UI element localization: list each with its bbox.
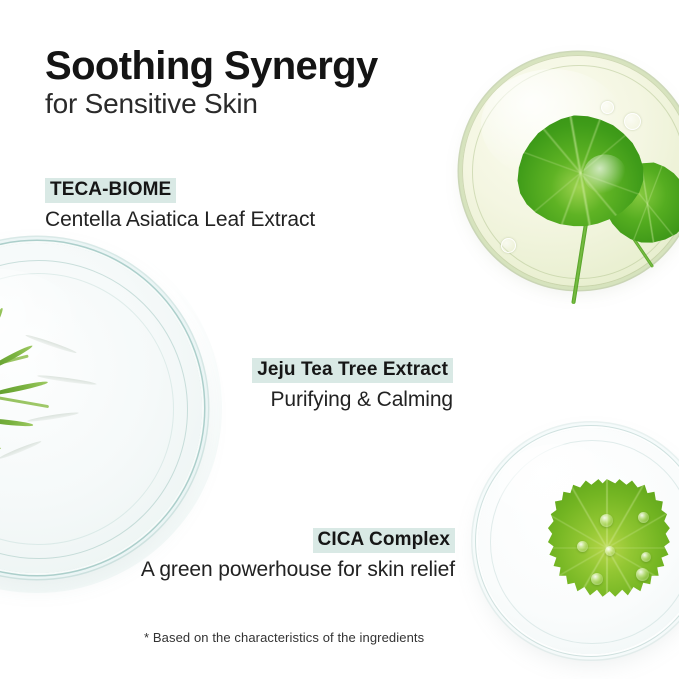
infographic-canvas: Soothing Synergy for Sensitive Skin TECA… [0, 0, 679, 679]
petri-dish-centella-leaves [462, 55, 679, 287]
footnote: * Based on the characteristics of the in… [144, 630, 424, 645]
ingredient-description: Purifying & Calming [252, 388, 453, 412]
ingredient-description: A green powerhouse for skin relief [141, 558, 455, 582]
water-droplet [600, 514, 613, 527]
ingredient-block-teca-biome: TECA-BIOME Centella Asiatica Leaf Extrac… [45, 178, 315, 232]
petri-dish-tea-tree [0, 243, 202, 573]
ingredient-block-cica-complex: CICA Complex A green powerhouse for skin… [141, 528, 455, 582]
page-subtitle: for Sensitive Skin [45, 88, 258, 120]
ingredient-description: Centella Asiatica Leaf Extract [45, 208, 315, 232]
ingredient-name: TECA-BIOME [45, 178, 176, 203]
ingredient-name: Jeju Tea Tree Extract [252, 358, 453, 383]
ingredient-block-jeju-tea-tree: Jeju Tea Tree Extract Purifying & Calmin… [252, 358, 453, 412]
page-title: Soothing Synergy [45, 44, 378, 89]
petri-dish-cica-leaf [478, 428, 679, 654]
water-droplet [591, 573, 603, 585]
water-droplet [641, 552, 651, 562]
ingredient-name: CICA Complex [313, 528, 455, 553]
water-droplet [605, 546, 615, 556]
